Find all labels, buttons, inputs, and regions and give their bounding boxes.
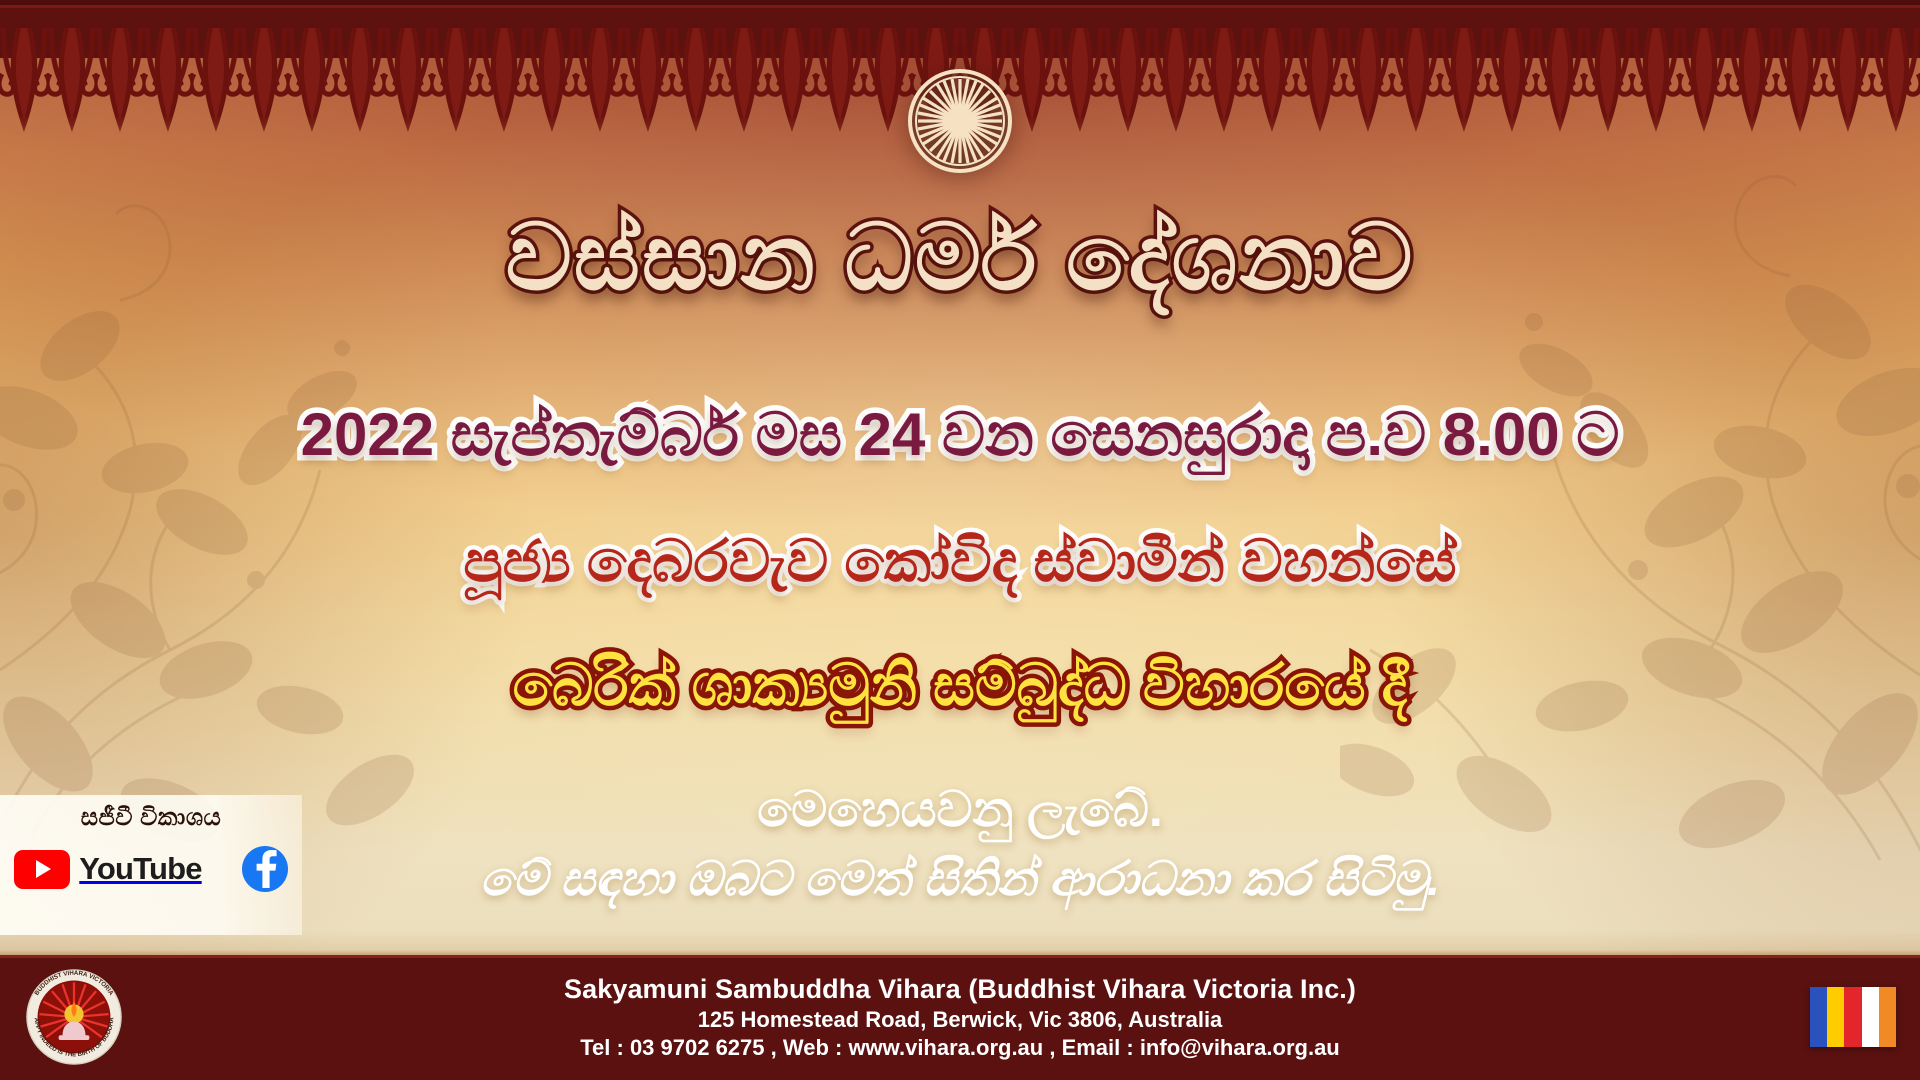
live-broadcast-label: සජීවී විකාශය — [81, 804, 221, 832]
youtube-play-icon — [14, 850, 70, 889]
flag-stripe-blue — [1810, 987, 1827, 1047]
footer-address: 125 Homestead Road, Berwick, Vic 3806, A… — [698, 1007, 1223, 1033]
poster-date-time: 2022 සැප්තැම්බර් මස 24 වන සෙනසුරාදා ප.ව … — [0, 400, 1920, 470]
youtube-link[interactable]: YouTube — [14, 850, 201, 889]
poster-title: වස්සාන ධර්ම දේශනාව — [0, 206, 1920, 313]
poster-speaker: පූජ්‍ය දෙබරවැව කෝවිද ස්වාමීන් වහන්සේ — [0, 528, 1920, 596]
flag-stripe-red — [1844, 987, 1861, 1047]
poster-canvas: වස්සාන ධර්ම දේශනාව 2022 සැප්තැම්බර් මස 2… — [0, 0, 1920, 1080]
facebook-f-icon — [252, 850, 278, 888]
flag-stripe-yellow — [1827, 987, 1844, 1047]
footer-org-name: Sakyamuni Sambuddha Vihara (Buddhist Vih… — [564, 974, 1356, 1005]
live-broadcast-panel: සජීවී විකාශය YouTube — [0, 795, 302, 935]
footer-bar: BUDDHIST VIHARA VICTORIA HAPPY INDEED IS… — [0, 955, 1920, 1080]
social-links-row: YouTube — [14, 846, 287, 892]
poster-venue: බෙරික් ශාක්‍යමුනි සම්බුද්ධ විහාරයේ දී — [0, 652, 1920, 720]
footer-contact: Tel : 03 9702 6275 , Web : www.vihara.or… — [580, 1035, 1340, 1061]
facebook-link[interactable] — [242, 846, 288, 892]
footer-contact-block: Sakyamuni Sambuddha Vihara (Buddhist Vih… — [0, 955, 1920, 1080]
youtube-label: YouTube — [79, 851, 201, 887]
flag-stripe-orange — [1879, 987, 1896, 1047]
buddhist-flag-icon — [1810, 987, 1896, 1047]
flag-stripe-white — [1862, 987, 1879, 1047]
